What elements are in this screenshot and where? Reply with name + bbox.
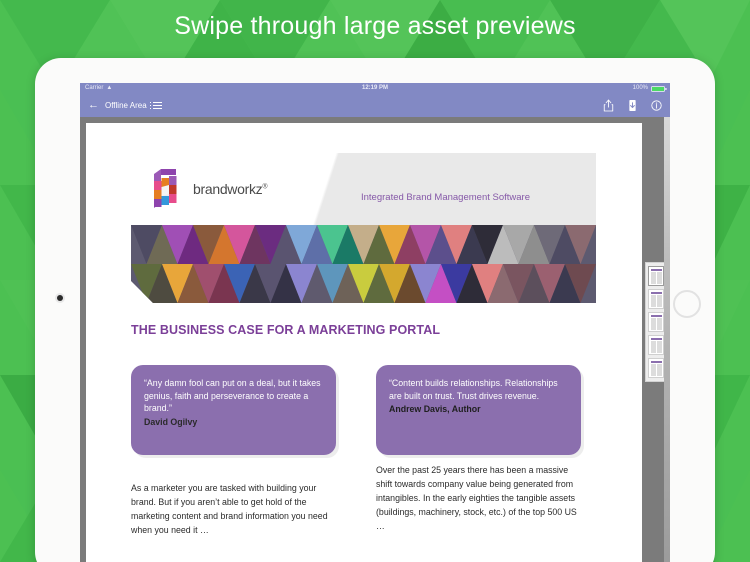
status-bar-time: 12:19 PM	[80, 83, 670, 94]
nav-bar-left: ← Offline Area	[88, 100, 162, 111]
quote-attribution: David Ogilvy	[144, 416, 323, 429]
ios-status-bar: Carrier ▲ 12:19 PM 100%	[80, 83, 670, 94]
info-icon[interactable]	[651, 99, 662, 112]
quote-card: “Any damn fool can put on a deal, but it…	[131, 365, 336, 455]
app-nav-bar: ← Offline Area	[80, 94, 670, 117]
thumbnail-page[interactable]	[648, 335, 664, 355]
brand-logo: brandworkz®	[151, 167, 267, 211]
quote-text: “Any damn fool can put on a deal, but it…	[144, 377, 323, 415]
front-camera-icon	[57, 295, 63, 301]
document-page: brandworkz® Integrated Brand Management …	[86, 123, 642, 562]
list-view-icon[interactable]	[153, 102, 162, 109]
brand-name-text: brandworkz®	[193, 181, 267, 197]
viewer-scrollbar[interactable]	[664, 117, 670, 562]
thumbnail-page[interactable]	[648, 358, 664, 378]
thumbnail-page[interactable]	[648, 266, 664, 286]
document-viewer[interactable]: brandworkz® Integrated Brand Management …	[80, 117, 670, 562]
thumbnail-page[interactable]	[648, 289, 664, 309]
home-button[interactable]	[673, 290, 701, 318]
share-icon[interactable]	[603, 99, 614, 112]
document-brand-header: brandworkz® Integrated Brand Management …	[131, 153, 596, 225]
battery-percent-label: 100%	[633, 83, 648, 94]
brand-tagline: Integrated Brand Management Software	[361, 192, 530, 203]
brandworkz-logo-icon	[151, 167, 185, 211]
document-triangle-banner	[131, 225, 596, 310]
quote-attribution: Andrew Davis, Author	[389, 403, 568, 416]
quote-text: “Content builds relationships. Relations…	[389, 377, 568, 402]
triangle-banner-graphic	[131, 225, 596, 310]
device-screen: Carrier ▲ 12:19 PM 100% ← Offline Area	[80, 83, 670, 562]
nav-bar-right	[603, 99, 662, 112]
status-bar-right: 100%	[633, 83, 665, 94]
back-arrow-icon[interactable]: ←	[88, 100, 99, 111]
nav-title: Offline Area	[105, 101, 147, 110]
thumbnail-page[interactable]	[648, 312, 664, 332]
body-column: As a marketer you are tasked with buildi…	[131, 481, 336, 537]
document-heading: THE BUSINESS CASE FOR A MARKETING PORTAL	[131, 323, 440, 337]
tablet-device-frame: Carrier ▲ 12:19 PM 100% ← Offline Area	[35, 58, 715, 562]
trademark-symbol: ®	[262, 183, 267, 190]
download-icon[interactable]	[627, 99, 638, 112]
quote-card: “Content builds relationships. Relations…	[376, 365, 581, 455]
body-column: Over the past 25 years there has been a …	[376, 463, 581, 533]
battery-icon	[651, 86, 665, 92]
promo-headline: Swipe through large asset previews	[0, 12, 750, 41]
